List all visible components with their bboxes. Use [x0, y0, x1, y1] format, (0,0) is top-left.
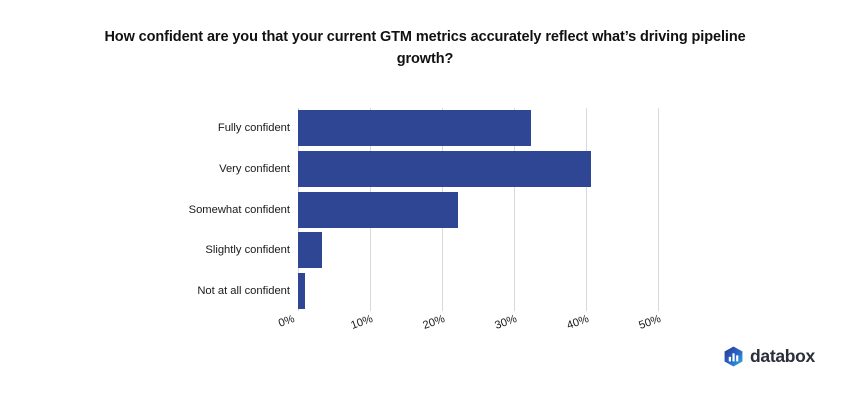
bar[interactable]	[298, 273, 305, 309]
databox-logo: databox	[723, 346, 815, 367]
bar-row	[298, 232, 322, 268]
y-axis-tick-label: Very confident	[100, 163, 290, 175]
x-axis-tick-label: 0%	[277, 313, 296, 330]
y-axis-tick-label: Fully confident	[100, 122, 290, 134]
x-axis-tick-label: 40%	[565, 313, 590, 332]
bar-row	[298, 151, 591, 187]
y-axis-tick-label: Not at all confident	[100, 285, 290, 297]
y-axis-tick-label: Slightly confident	[100, 244, 290, 256]
chart-title: How confident are you that your current …	[85, 26, 765, 71]
x-axis-tick-label: 20%	[421, 313, 446, 332]
bar[interactable]	[298, 232, 322, 268]
gridline	[658, 108, 659, 311]
bar-series	[298, 108, 658, 311]
x-axis-tick-labels: 0% 10% 20% 30% 40% 50%	[298, 313, 658, 343]
chart-plot-area	[298, 108, 658, 311]
y-axis-tick-label: Somewhat confident	[100, 204, 290, 216]
y-axis-category-labels: Fully confident Very confident Somewhat …	[100, 108, 290, 311]
x-axis-tick-label: 10%	[349, 313, 374, 332]
databox-hexagon-barchart-icon	[723, 346, 744, 367]
databox-wordmark: databox	[750, 348, 815, 366]
bar[interactable]	[298, 110, 531, 146]
bar-row	[298, 273, 305, 309]
x-axis-tick-label: 30%	[493, 313, 518, 332]
x-axis-tick-label: 50%	[637, 313, 662, 332]
bar[interactable]	[298, 151, 591, 187]
bar-row	[298, 192, 458, 228]
bar-row	[298, 110, 531, 146]
bar[interactable]	[298, 192, 458, 228]
